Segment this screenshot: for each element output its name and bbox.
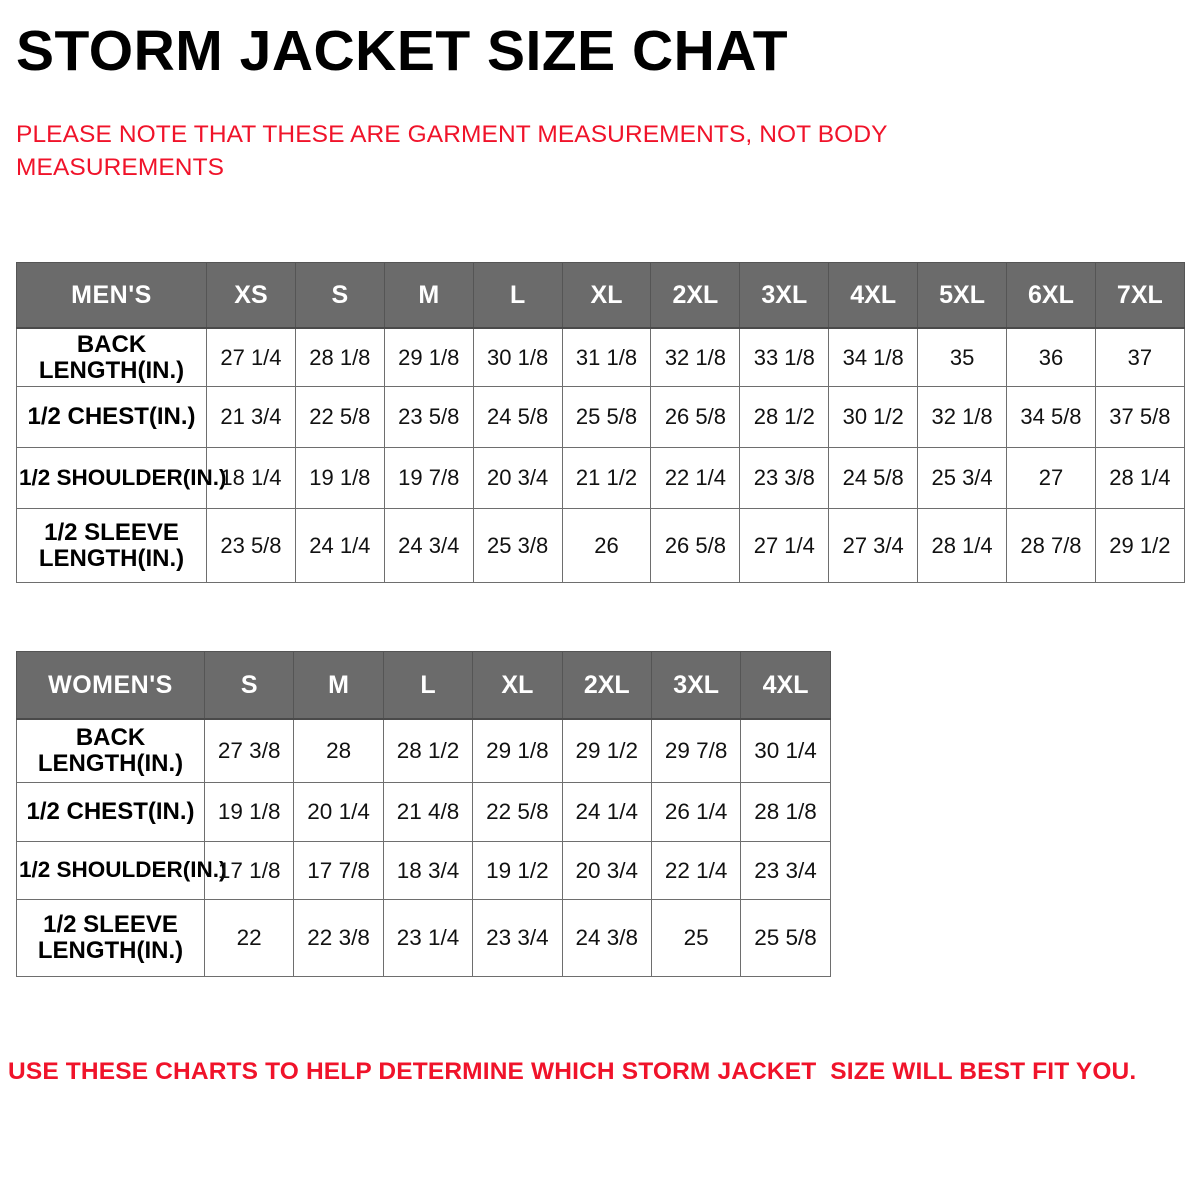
mens-row-label-0: BACKLENGTH(IN.): [17, 328, 207, 387]
table-row: 1/2 SHOULDER(IN.)18 1/419 1/819 7/820 3/…: [17, 448, 1185, 509]
measurement-cell: 29 7/8: [651, 719, 740, 783]
measurement-cell: 26 5/8: [651, 387, 740, 448]
measurement-cell: 30 1/4: [741, 719, 830, 783]
table-row: 1/2 CHEST(IN.)19 1/820 1/421 4/822 5/824…: [17, 783, 831, 842]
mens-size-header-6xl: 6XL: [1007, 263, 1096, 329]
measurement-cell: 24 3/8: [562, 900, 651, 977]
measurement-cell: 18 1/4: [207, 448, 296, 509]
measurement-cell: 26: [562, 509, 651, 583]
womens-row-label-1: 1/2 CHEST(IN.): [17, 783, 205, 842]
measurement-cell: 35: [918, 328, 1007, 387]
womens-size-header-3xl: 3XL: [651, 652, 740, 720]
measurement-cell: 24 5/8: [829, 448, 918, 509]
measurement-cell: 22 1/4: [651, 842, 740, 900]
measurement-cell: 28 1/4: [918, 509, 1007, 583]
table-row: BACKLENGTH(IN.)27 1/428 1/829 1/830 1/83…: [17, 328, 1185, 387]
mens-size-header-xl: XL: [562, 263, 651, 329]
measurement-cell: 31 1/8: [562, 328, 651, 387]
womens-header-row: WOMEN'SSMLXL2XL3XL4XL: [17, 652, 831, 720]
mens-size-header-4xl: 4XL: [829, 263, 918, 329]
measurement-cell: 29 1/8: [473, 719, 562, 783]
mens-corner-header: MEN'S: [17, 263, 207, 329]
measurement-cell: 29 1/2: [1095, 509, 1184, 583]
measurement-cell: 28: [294, 719, 383, 783]
measurement-cell: 28 1/8: [295, 328, 384, 387]
measurement-cell: 29 1/8: [384, 328, 473, 387]
measurement-cell: 25 5/8: [741, 900, 830, 977]
measurement-cell: 23 5/8: [384, 387, 473, 448]
mens-size-header-7xl: 7XL: [1095, 263, 1184, 329]
measurement-cell: 23 3/4: [741, 842, 830, 900]
measurement-cell: 30 1/2: [829, 387, 918, 448]
measurement-cell: 36: [1007, 328, 1096, 387]
size-chart-page: STORM JACKET SIZE CHAT PLEASE NOTE THAT …: [0, 0, 1200, 1200]
mens-row-label-2: 1/2 SHOULDER(IN.): [17, 448, 207, 509]
mens-row-label-1: 1/2 CHEST(IN.): [17, 387, 207, 448]
measurement-cell: 23 1/4: [383, 900, 472, 977]
measurement-cell: 24 5/8: [473, 387, 562, 448]
measurement-cell: 25 3/4: [918, 448, 1007, 509]
measurement-cell: 30 1/8: [473, 328, 562, 387]
measurement-cell: 21 3/4: [207, 387, 296, 448]
mens-size-header-xs: XS: [207, 263, 296, 329]
table-row: 1/2 SHOULDER(IN.)17 1/817 7/818 3/419 1/…: [17, 842, 831, 900]
measurement-cell: 37 5/8: [1095, 387, 1184, 448]
measurement-cell: 19 1/8: [295, 448, 384, 509]
footer-note: USE THESE CHARTS TO HELP DETERMINE WHICH…: [8, 1056, 1188, 1088]
measurement-cell: 22 5/8: [473, 783, 562, 842]
womens-size-table: WOMEN'SSMLXL2XL3XL4XL BACKLENGTH(IN.)27 …: [16, 651, 831, 977]
measurement-cell: 33 1/8: [740, 328, 829, 387]
measurement-cell: 24 3/4: [384, 509, 473, 583]
measurement-cell: 25 3/8: [473, 509, 562, 583]
womens-row-label-2: 1/2 SHOULDER(IN.): [17, 842, 205, 900]
measurement-cell: 32 1/8: [651, 328, 740, 387]
womens-table-body: BACKLENGTH(IN.)27 3/82828 1/229 1/829 1/…: [17, 719, 831, 977]
measurement-cell: 28 1/4: [1095, 448, 1184, 509]
womens-size-header-4xl: 4XL: [741, 652, 830, 720]
table-row: 1/2 SLEEVELENGTH(IN.)2222 3/823 1/423 3/…: [17, 900, 831, 977]
measurement-cell: 18 3/4: [383, 842, 472, 900]
measurement-cell: 27 1/4: [207, 328, 296, 387]
measurement-cell: 21 1/2: [562, 448, 651, 509]
measurement-cell: 25 5/8: [562, 387, 651, 448]
table-row: 1/2 CHEST(IN.)21 3/422 5/823 5/824 5/825…: [17, 387, 1185, 448]
measurement-cell: 25: [651, 900, 740, 977]
mens-size-header-2xl: 2XL: [651, 263, 740, 329]
measurement-cell: 26 1/4: [651, 783, 740, 842]
mens-size-table: MEN'SXSSMLXL2XL3XL4XL5XL6XL7XL BACKLENGT…: [16, 262, 1185, 583]
mens-size-header-s: S: [295, 263, 384, 329]
womens-table-head: WOMEN'SSMLXL2XL3XL4XL: [17, 652, 831, 720]
measurement-cell: 34 5/8: [1007, 387, 1096, 448]
table-row: BACKLENGTH(IN.)27 3/82828 1/229 1/829 1/…: [17, 719, 831, 783]
mens-size-header-l: L: [473, 263, 562, 329]
measurement-cell: 28 7/8: [1007, 509, 1096, 583]
measurement-cell: 32 1/8: [918, 387, 1007, 448]
measurement-cell: 27 3/8: [205, 719, 294, 783]
mens-header-row: MEN'SXSSMLXL2XL3XL4XL5XL6XL7XL: [17, 263, 1185, 329]
mens-row-label-3: 1/2 SLEEVELENGTH(IN.): [17, 509, 207, 583]
mens-size-header-3xl: 3XL: [740, 263, 829, 329]
mens-size-header-m: M: [384, 263, 473, 329]
measurement-cell: 22 3/8: [294, 900, 383, 977]
measurement-cell: 19 1/8: [205, 783, 294, 842]
womens-size-header-xl: XL: [473, 652, 562, 720]
measurement-cell: 22 1/4: [651, 448, 740, 509]
womens-size-header-s: S: [205, 652, 294, 720]
measurement-cell: 19 1/2: [473, 842, 562, 900]
womens-row-label-0: BACKLENGTH(IN.): [17, 719, 205, 783]
measurement-cell: 19 7/8: [384, 448, 473, 509]
womens-size-header-l: L: [383, 652, 472, 720]
measurement-cell: 37: [1095, 328, 1184, 387]
measurement-cell: 26 5/8: [651, 509, 740, 583]
measurement-cell: 28 1/8: [741, 783, 830, 842]
measurement-cell: 27 1/4: [740, 509, 829, 583]
measurement-cell: 20 1/4: [294, 783, 383, 842]
measurement-cell: 17 1/8: [205, 842, 294, 900]
measurement-cell: 17 7/8: [294, 842, 383, 900]
measurement-cell: 28 1/2: [740, 387, 829, 448]
measurement-cell: 22 5/8: [295, 387, 384, 448]
page-title: STORM JACKET SIZE CHAT: [16, 23, 788, 80]
measurement-cell: 23 3/4: [473, 900, 562, 977]
mens-size-header-5xl: 5XL: [918, 263, 1007, 329]
womens-size-header-2xl: 2XL: [562, 652, 651, 720]
mens-table-head: MEN'SXSSMLXL2XL3XL4XL5XL6XL7XL: [17, 263, 1185, 329]
measurement-cell: 34 1/8: [829, 328, 918, 387]
garment-measurement-note: PLEASE NOTE THAT THESE ARE GARMENT MEASU…: [16, 118, 976, 184]
womens-corner-header: WOMEN'S: [17, 652, 205, 720]
measurement-cell: 20 3/4: [473, 448, 562, 509]
measurement-cell: 28 1/2: [383, 719, 472, 783]
measurement-cell: 23 5/8: [207, 509, 296, 583]
measurement-cell: 20 3/4: [562, 842, 651, 900]
table-row: 1/2 SLEEVELENGTH(IN.)23 5/824 1/424 3/42…: [17, 509, 1185, 583]
mens-table-body: BACKLENGTH(IN.)27 1/428 1/829 1/830 1/83…: [17, 328, 1185, 583]
womens-size-header-m: M: [294, 652, 383, 720]
measurement-cell: 24 1/4: [295, 509, 384, 583]
measurement-cell: 22: [205, 900, 294, 977]
measurement-cell: 23 3/8: [740, 448, 829, 509]
measurement-cell: 27 3/4: [829, 509, 918, 583]
measurement-cell: 24 1/4: [562, 783, 651, 842]
womens-row-label-3: 1/2 SLEEVELENGTH(IN.): [17, 900, 205, 977]
measurement-cell: 29 1/2: [562, 719, 651, 783]
measurement-cell: 27: [1007, 448, 1096, 509]
measurement-cell: 21 4/8: [383, 783, 472, 842]
